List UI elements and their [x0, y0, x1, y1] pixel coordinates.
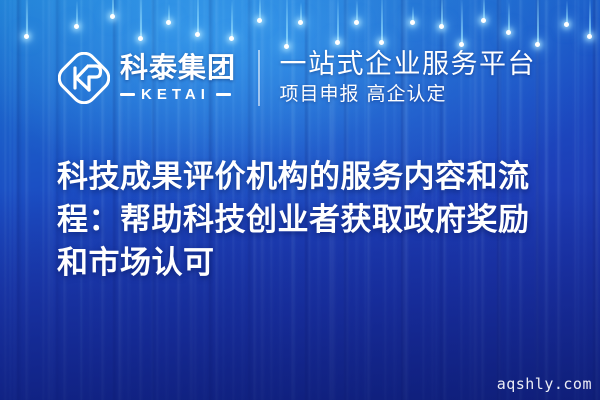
light-particle-icon	[231, 0, 233, 38]
brand-header: 科泰集团 KETAI 一站式企业服务平台 项目申报 高企认定	[58, 45, 536, 111]
light-particle-icon	[259, 0, 261, 20]
logo-dash-right-icon	[216, 93, 231, 96]
site-watermark: aqshly.com	[497, 375, 592, 393]
light-particle-icon	[537, 0, 539, 44]
tagline-secondary: 项目申报 高企认定	[280, 83, 537, 107]
light-particle-icon	[356, 0, 358, 22]
page-title-line: 和市场认可	[57, 242, 557, 285]
page-title-line: 程：帮助科技创业者获取政府奖励	[57, 199, 557, 242]
light-particle-icon	[140, 0, 142, 38]
logo-company-name-cn: 科泰集团	[120, 53, 236, 82]
ketai-diamond-k-logo-icon	[58, 52, 110, 104]
light-particle-icon	[168, 4, 170, 22]
light-particle-icon	[441, 0, 443, 26]
light-particle-icon	[76, 0, 78, 26]
page-title: 科技成果评价机构的服务内容和流程：帮助科技创业者获取政府奖励和市场认可	[57, 156, 557, 285]
light-particle-icon	[589, 0, 591, 36]
light-particle-icon	[381, 0, 383, 42]
light-particle-icon	[197, 0, 199, 34]
logo-wordmark: 科泰集团 KETAI	[120, 53, 236, 102]
light-particle-icon	[566, 0, 568, 24]
logo-lockup[interactable]: 科泰集团 KETAI	[58, 52, 236, 104]
light-particle-icon	[508, 2, 510, 32]
logo-company-name-en: KETAI	[141, 86, 210, 103]
logo-latin-row: KETAI	[120, 86, 236, 103]
light-particle-icon	[300, 2, 302, 22]
light-particle-icon	[286, 0, 288, 46]
logo-dash-left-icon	[120, 93, 135, 96]
header-divider	[258, 50, 260, 106]
page-title-line: 科技成果评价机构的服务内容和流	[57, 156, 557, 199]
light-particle-icon	[412, 6, 414, 22]
promo-banner: 科泰集团 KETAI 一站式企业服务平台 项目申报 高企认定 科技成果评价机构的…	[0, 0, 600, 400]
light-particle-icon	[461, 0, 463, 44]
light-particle-icon	[26, 0, 28, 36]
tagline-primary: 一站式企业服务平台	[280, 49, 537, 80]
light-particle-icon	[112, 0, 114, 16]
light-particle-icon	[337, 0, 339, 42]
tagline-block: 一站式企业服务平台 项目申报 高企认定	[280, 49, 537, 107]
light-particle-icon	[483, 0, 485, 20]
